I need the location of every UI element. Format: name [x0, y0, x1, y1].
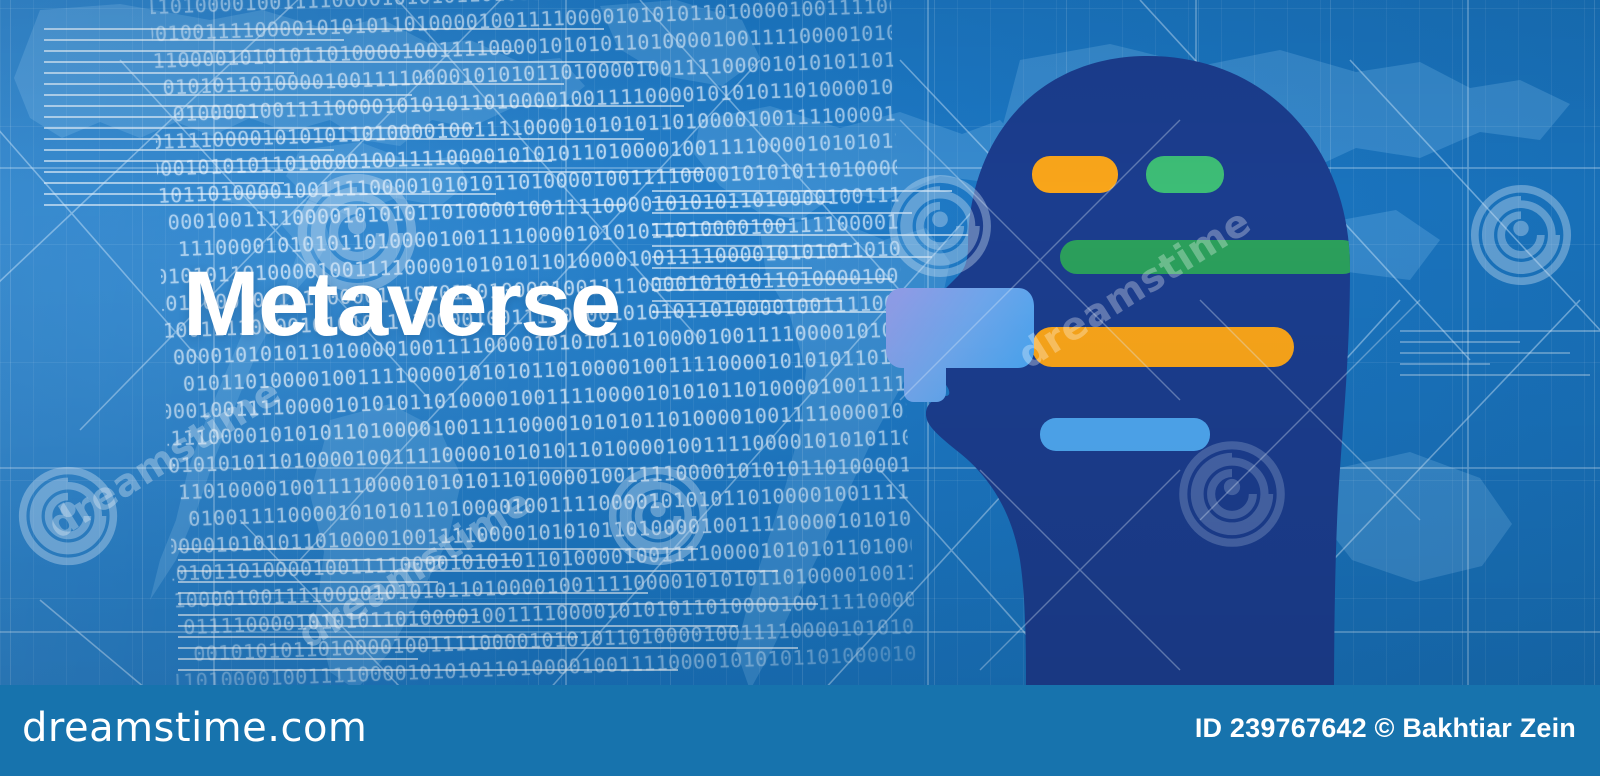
dreamstime-spiral-icon [604, 462, 712, 570]
page-title: Metaverse [183, 258, 620, 350]
image-credit: ID 239767642 © Bakhtiar Zein [1195, 713, 1576, 744]
dreamstime-spiral-icon [1174, 436, 1290, 552]
footer-bar: dreamstime.com ID 239767642 © Bakhtiar Z… [0, 685, 1600, 776]
dreamstime-logo[interactable]: dreamstime.com [22, 705, 367, 751]
dreamstime-spiral-icon [884, 170, 996, 282]
head-illustration [830, 0, 1430, 700]
head-silhouette [917, 56, 1350, 700]
bar-green-small [1146, 156, 1224, 193]
bar-orange-small [1032, 156, 1118, 193]
dreamstime-spiral-icon [1466, 180, 1576, 290]
hline-group-bottom-mid [178, 548, 818, 680]
hline-group-right-edge [1400, 330, 1600, 385]
banner-canvas: 0110100001001111000010101011010000100111… [0, 0, 1600, 776]
